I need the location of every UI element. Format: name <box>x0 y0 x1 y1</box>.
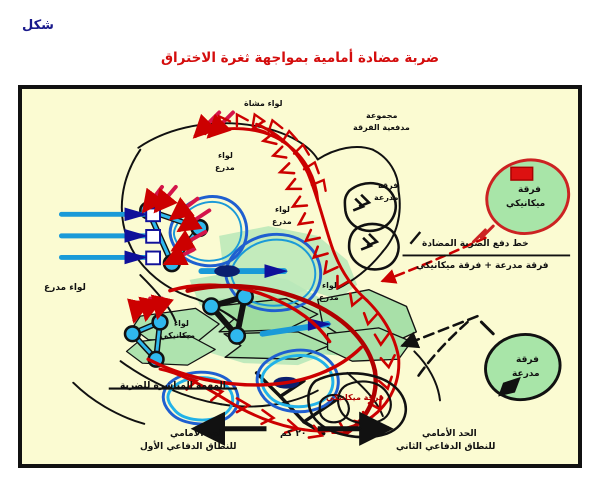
label-distance-scale: ٢٠ كم <box>280 429 306 439</box>
label-armored-division-top-line1: فرقة <box>378 181 398 190</box>
label-mech-brigade-line2: ميكانيكي <box>160 331 195 340</box>
label-armored-division-ellipse-line2: مدرعة <box>512 369 540 379</box>
diagram-title: ضربة مضادة أمامية بمواجهة ثغرة الاختراق <box>0 50 600 66</box>
label-armored-division-ellipse-line1: فرقة <box>516 355 539 365</box>
label-mech-division-ellipse-line1: فرقة <box>518 185 541 195</box>
label-armored-brigade-mid-line1: لواء <box>275 205 290 214</box>
label-division-artillery-group-line2: مدفعية الفرقة <box>353 123 410 132</box>
mech-division-ellipse <box>474 150 578 244</box>
label-armored-division-top-line2: مدرعة <box>374 193 399 202</box>
diagram-canvas <box>22 89 578 464</box>
label-mech-division-inner: فرقة ميكانيكي <box>326 393 384 402</box>
label-mech-division-ellipse-line2: ميكانيكي <box>506 199 545 209</box>
label-armored-brigade-upper-line2: مدرع <box>215 163 235 172</box>
label-armored-brigade-left: لواء مدرع <box>44 283 86 293</box>
label-second-defensive-zone-line2: للنطاق الدفاعي الثاني <box>396 442 495 452</box>
breakthrough-green-area <box>126 226 416 365</box>
label-first-defensive-zone-line2: للنطاق الدفاعي الأول <box>140 442 237 452</box>
label-first-defensive-zone-line1: الحد الأمامي <box>170 429 225 439</box>
label-armored-brigade-upper-line1: لواء <box>218 151 233 160</box>
figure-label: شكل <box>22 18 54 33</box>
label-second-defensive-zone-line1: الحد الأمامي <box>422 429 477 439</box>
red-rectangle-icon <box>511 167 533 180</box>
label-armored-brigade-lower-line2: مدرع <box>319 293 339 302</box>
label-counterstrike-line-units: فرقة مدرعة + فرقة ميكانيكي <box>416 261 549 271</box>
label-counterstrike-line-title: خط دفع الضربة المضادة <box>422 239 529 249</box>
label-infantry-brigade: لواء مشاة <box>244 99 282 108</box>
label-armored-brigade-lower-line1: لواء <box>322 281 337 290</box>
label-direct-mission: المهمة المباشرة للضربة <box>120 381 226 391</box>
diagram-panel: لواء مشاة مجموعة مدفعية الفرقة فرقة مدرع… <box>18 85 582 468</box>
label-division-artillery-group-line1: مجموعة <box>366 111 397 120</box>
label-mech-brigade-line1: لواء <box>174 319 189 328</box>
counter-arrows-lower-left <box>134 299 162 321</box>
label-armored-brigade-mid-line2: مدرع <box>272 217 292 226</box>
left-attack-arrows <box>61 187 209 264</box>
